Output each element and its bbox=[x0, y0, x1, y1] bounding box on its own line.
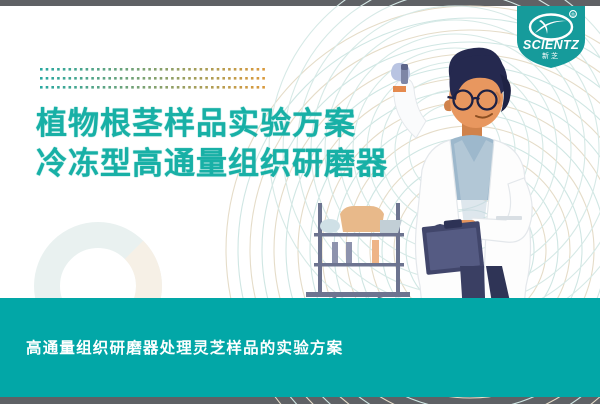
caption-banner: 高通量组织研磨器处理灵芝样品的实验方案 bbox=[0, 298, 600, 397]
caption-text: 高通量组织研磨器处理灵芝样品的实验方案 bbox=[26, 336, 343, 358]
logo-sub-wordmark: 新芝 bbox=[542, 51, 560, 60]
dot-grid-decoration bbox=[40, 68, 270, 94]
scientz-logo[interactable]: ® SCIENTZ 新芝 bbox=[515, 6, 587, 68]
logo-wordmark: SCIENTZ bbox=[523, 38, 580, 52]
slide-canvas: 植物根茎样品实验方案 冷冻型高通量组织研磨器 高通量组织研磨器处理灵芝样品的实验… bbox=[0, 0, 600, 404]
registered-mark: ® bbox=[571, 12, 575, 19]
headline-line-2: 冷冻型高通量组织研磨器 bbox=[36, 144, 388, 184]
headline-line-1: 植物根茎样品实验方案 bbox=[36, 104, 388, 144]
headline-block: 植物根茎样品实验方案 冷冻型高通量组织研磨器 bbox=[36, 104, 388, 184]
head bbox=[444, 55, 511, 128]
